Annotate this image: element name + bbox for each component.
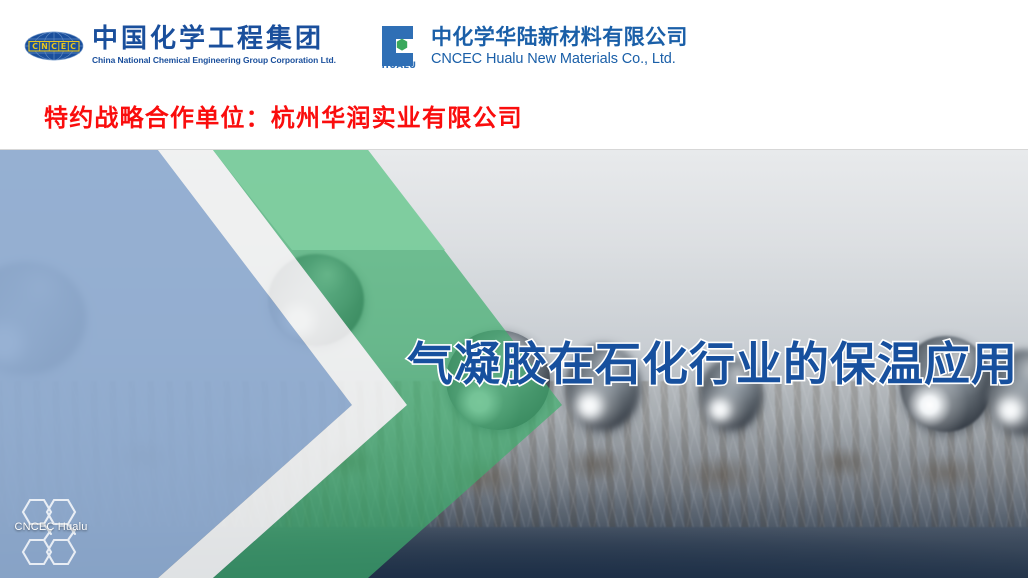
slide-header: C N C E C [0, 0, 1028, 150]
slide-title: 气凝胶在石化行业的保温应用 [338, 328, 1018, 394]
svg-text:HUALU: HUALU [382, 61, 417, 70]
logo-hualu-en-name: CNCEC Hualu New Materials Co., Ltd. [431, 51, 688, 67]
logo-hualu-cn-name: 中化学华陆新材料有限公司 [431, 26, 688, 49]
globe-cncec-icon: C N C E C [24, 31, 84, 61]
presentation-slide: C N C E C [0, 0, 1028, 578]
svg-text:C: C [51, 42, 57, 51]
logo-hualu-text: 中化学华陆新材料有限公司 CNCEC Hualu New Materials C… [431, 26, 688, 67]
svg-text:E: E [61, 42, 66, 51]
watermark-label: CNCEC Hualu [5, 521, 97, 533]
hualu-hexagon-icon: HUALU [378, 24, 422, 70]
svg-text:C: C [32, 42, 38, 51]
logo-cncec-cn-name: 中国化学工程集团 [92, 26, 331, 53]
svg-text:C: C [70, 42, 76, 51]
logo-cncec-hualu: HUALU 中化学华陆新材料有限公司 CNCEC Hualu New Mater… [378, 22, 688, 70]
hero-banner: 气凝胶在石化行业的保温应用 CNCEC Hualu [0, 150, 1028, 578]
svg-text:N: N [41, 42, 48, 51]
logo-row: C N C E C [0, 22, 1028, 78]
partner-line: 特约战略合作单位：杭州华润实业有限公司 [44, 98, 523, 133]
logo-cncec-en-name: China National Chemical Engineering Grou… [92, 55, 336, 65]
logo-cncec-group: C N C E C [24, 26, 331, 65]
logo-cncec-text: 中国化学工程集团 China National Chemical Enginee… [92, 26, 331, 65]
